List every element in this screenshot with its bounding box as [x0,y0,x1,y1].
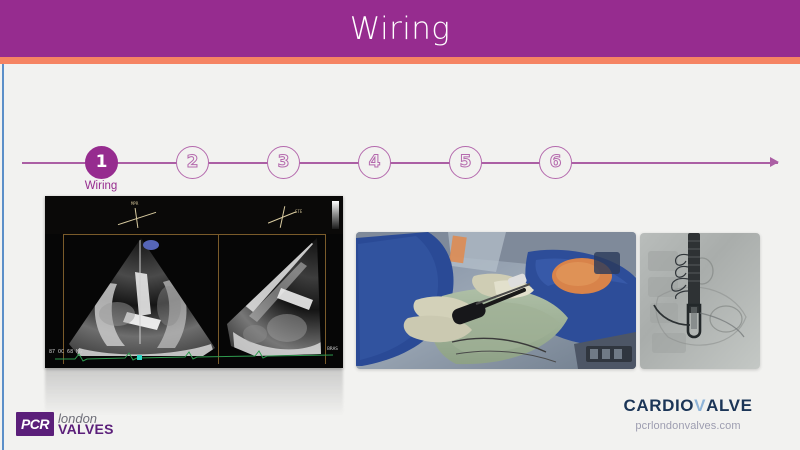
echo-marker-right-label: STE [295,209,302,214]
echo-divider-left [63,234,64,364]
echo-probe-marker-left [117,208,157,228]
slide-root: Wiring 1 Wiring 2 3 4 5 6 [0,0,800,450]
echo-ecg-cursor [137,355,142,360]
cardiovalve-wordmark: CARDIOVALVE [598,396,778,416]
cardiovalve-logo: CARDIOVALVE pcrlondonvalves.com [598,396,778,432]
echo-divider-right [325,234,326,364]
echo-ecg-trace [55,350,333,362]
echo-greyscale-bar [332,201,339,229]
echo-probe-marker-right [267,206,297,228]
echo-top-bar [45,196,343,234]
echo-sector-right [221,236,325,358]
pcr-valves-text: VALVES [58,424,114,435]
header-accent-stripe [0,57,800,64]
media-area: MPR STE [0,140,800,390]
echo-image: MPR STE [45,196,343,368]
fluoroscopy-image[interactable] [640,233,760,369]
pcr-london-valves-logo: PCR london VALVES [16,412,114,436]
cardiovalve-part3: ALVE [706,396,752,416]
page-title: Wiring [0,0,800,57]
echo-divider-middle [218,234,219,364]
pcr-badge: PCR [16,412,54,436]
surgical-photo-content [356,232,636,369]
cardiovalve-part1: CARDIO [623,396,694,416]
footer: PCR london VALVES CARDIOVALVE pcrlondonv… [0,390,800,450]
pcr-wordmark: london VALVES [58,413,114,435]
echo-image-wrapper[interactable]: MPR STE [45,196,343,368]
fluoroscopy-content [640,233,760,369]
step-timeline: 1 Wiring 2 3 4 5 6 [0,64,800,134]
echo-marker-left-label: MPR [131,201,138,206]
surgical-photo[interactable] [356,232,636,369]
website-url: pcrlondonvalves.com [598,420,778,432]
echo-divider-horizontal [63,234,325,235]
echo-sector-left [65,236,217,358]
cardiovalve-v-icon: V [694,396,706,416]
